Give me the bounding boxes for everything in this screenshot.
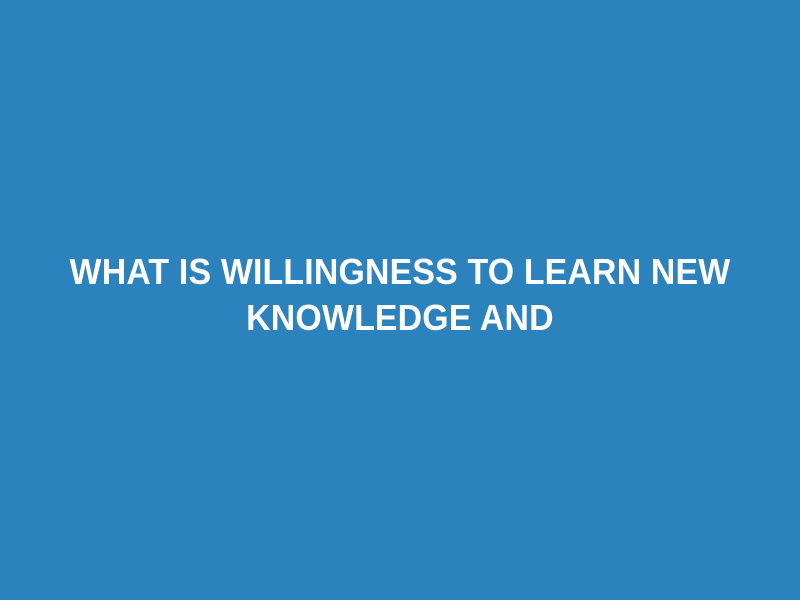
hero-banner: WHAT IS WILLINGNESS TO LEARN NEW KNOWLED… — [0, 0, 800, 600]
page-title: WHAT IS WILLINGNESS TO LEARN NEW KNOWLED… — [62, 249, 739, 341]
title-block: WHAT IS WILLINGNESS TO LEARN NEW KNOWLED… — [0, 249, 800, 341]
